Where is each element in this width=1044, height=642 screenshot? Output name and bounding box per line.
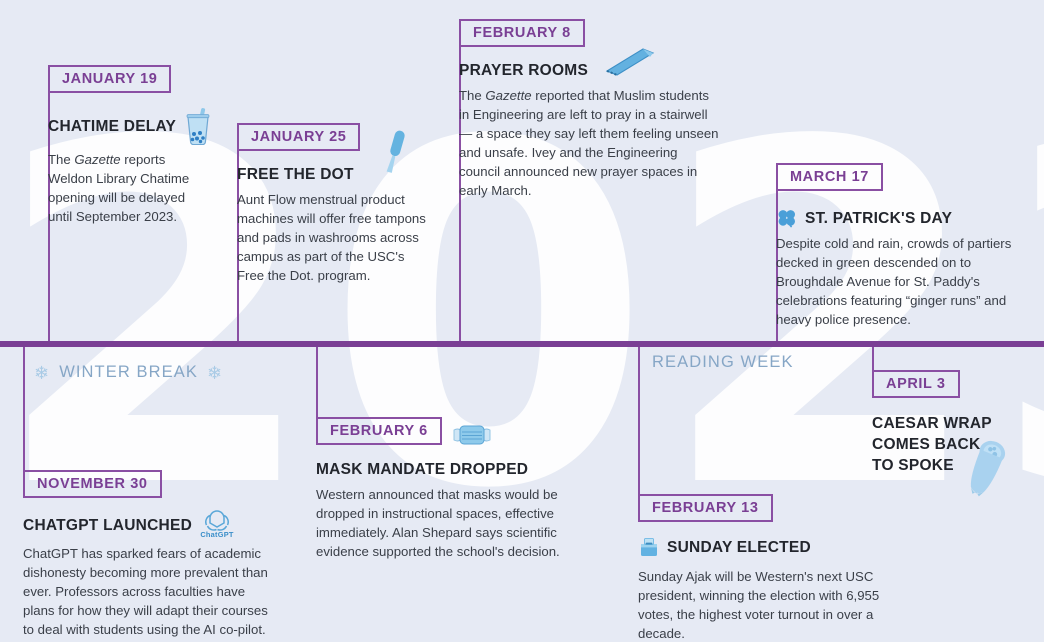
event-body-emphasis: Gazette bbox=[485, 88, 531, 103]
timeline-infographic: 2023 JANUARY 19 CHATIME DELAY bbox=[0, 0, 1044, 642]
event-headline: ST. PATRICK'S DAY bbox=[776, 207, 1034, 229]
bubble-tea-icon bbox=[183, 107, 213, 145]
event-headline-text: SUNDAY ELECTED bbox=[667, 538, 811, 557]
event-body-lead: Western announced that masks would be dr… bbox=[316, 487, 560, 559]
date-badge[interactable]: MARCH 17 bbox=[776, 163, 883, 191]
date-badge[interactable]: NOVEMBER 30 bbox=[23, 470, 162, 498]
event-body: Sunday Ajak will be Western's next USC p… bbox=[638, 567, 884, 642]
event-headline-text: PRAYER ROOMS bbox=[459, 61, 588, 80]
event-body-rest: reported that Muslim students in Enginee… bbox=[459, 88, 719, 198]
event-body-lead: Aunt Flow menstrual product machines wil… bbox=[237, 192, 426, 283]
date-badge[interactable]: JANUARY 19 bbox=[48, 65, 171, 93]
event-body-lead: Despite cold and rain, crowds of partier… bbox=[776, 236, 1011, 327]
event-body-lead: Sunday Ajak will be Western's next USC p… bbox=[638, 569, 879, 641]
event-headline: PRAYER ROOMS bbox=[459, 61, 739, 80]
wrap-icon bbox=[957, 437, 1015, 499]
event-body: Aunt Flow menstrual product machines wil… bbox=[237, 190, 435, 285]
event-body-emphasis: Gazette bbox=[74, 152, 120, 167]
event-headline: SUNDAY ELECTED bbox=[638, 536, 888, 558]
event-sunday-elected: FEBRUARY 13 SUNDAY ELECTED Sunday Ajak w… bbox=[638, 494, 888, 642]
svg-text:ChatGPT: ChatGPT bbox=[200, 530, 234, 539]
season-label-winter-break: ❄ WINTER BREAK ❄ bbox=[34, 363, 223, 382]
date-badge[interactable]: FEBRUARY 6 bbox=[316, 417, 442, 445]
date-badge[interactable]: JANUARY 25 bbox=[237, 123, 360, 151]
event-headline-text: CHATGPT LAUNCHED bbox=[23, 516, 192, 535]
event-headline-text: MASK MANDATE DROPPED bbox=[316, 460, 528, 479]
date-badge[interactable]: APRIL 3 bbox=[872, 370, 960, 398]
event-body: ChatGPT has sparked fears of academic di… bbox=[23, 544, 271, 639]
prayer-mat-icon bbox=[603, 45, 657, 79]
tampon-icon bbox=[382, 126, 408, 178]
event-headline: CHATGPT LAUNCHED ChatGPT bbox=[23, 511, 278, 539]
ballot-box-icon bbox=[638, 536, 660, 558]
shamrock-icon bbox=[776, 207, 798, 229]
event-chatime-delay: JANUARY 19 CHATIME DELAY The Gazette rep… bbox=[48, 65, 228, 226]
event-headline-text: FREE THE DOT bbox=[237, 165, 354, 184]
connector-winterbreak bbox=[23, 346, 25, 481]
event-prayer-rooms: FEBRUARY 8 PRAYER ROOMS The Gazette repo… bbox=[459, 19, 739, 200]
event-headline-text: ST. PATRICK'S DAY bbox=[805, 209, 952, 228]
event-chatgpt-launched: NOVEMBER 30 CHATGPT LAUNCHED ChatGPT Cha… bbox=[23, 470, 278, 639]
event-body-lead: The bbox=[459, 88, 485, 103]
event-headline: FREE THE DOT bbox=[237, 165, 459, 184]
event-free-the-dot: JANUARY 25 FREE THE DOT Aunt Flow menstr… bbox=[237, 123, 459, 285]
snowflake-icon: ❄ bbox=[34, 364, 50, 382]
event-body: The Gazette reported that Muslim student… bbox=[459, 86, 721, 200]
season-label-text: READING WEEK bbox=[652, 353, 794, 372]
season-label-reading-week: READING WEEK bbox=[652, 353, 794, 372]
event-body: Western announced that masks would be dr… bbox=[316, 485, 584, 561]
snowflake-icon: ❄ bbox=[207, 364, 223, 382]
event-body: Despite cold and rain, crowds of partier… bbox=[776, 234, 1028, 329]
connector-readingweek bbox=[638, 346, 640, 507]
event-headline: MASK MANDATE DROPPED bbox=[316, 460, 591, 479]
event-body-lead: The bbox=[48, 152, 74, 167]
date-badge[interactable]: FEBRUARY 8 bbox=[459, 19, 585, 47]
event-headline-text: CHATIME DELAY bbox=[48, 117, 176, 136]
date-badge[interactable]: FEBRUARY 13 bbox=[638, 494, 773, 522]
event-body: The Gazette reports Weldon Library Chati… bbox=[48, 150, 208, 226]
season-label-text: WINTER BREAK bbox=[59, 363, 198, 382]
chatgpt-logo-icon: ChatGPT bbox=[199, 507, 235, 539]
event-body-lead: ChatGPT has sparked fears of academic di… bbox=[23, 546, 268, 637]
face-mask-icon bbox=[452, 421, 492, 449]
timeline-rail bbox=[0, 341, 1044, 347]
event-headline: CHATIME DELAY bbox=[48, 107, 228, 145]
event-st-patricks-day: MARCH 17 ST. PATRICK'S DAY Despite cold … bbox=[776, 163, 1034, 329]
